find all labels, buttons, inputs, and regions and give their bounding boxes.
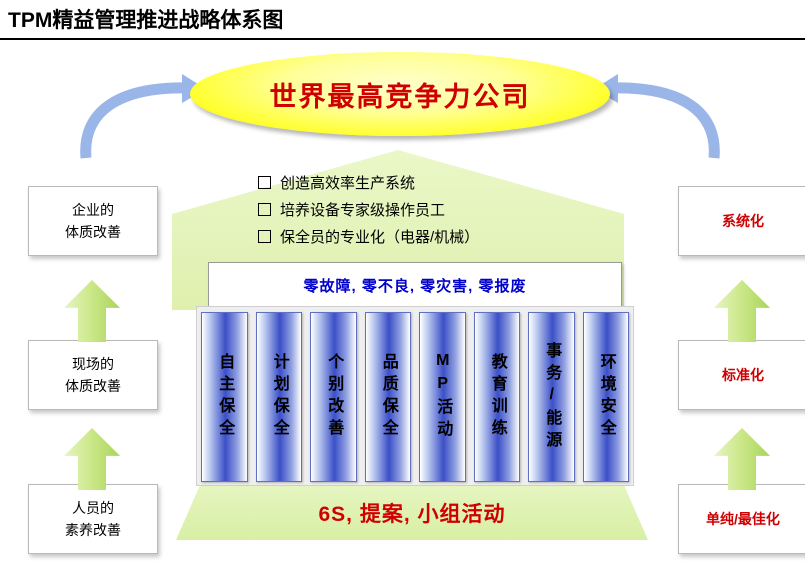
right-box-2-label: 标准化 xyxy=(722,364,764,386)
right-box-3-label: 单纯/最佳化 xyxy=(706,508,780,530)
title-divider xyxy=(0,38,805,40)
pillar: 品质保全 xyxy=(365,312,412,482)
pillar-label: 自主保全 xyxy=(216,353,232,441)
right-box-3: 单纯/最佳化 xyxy=(678,484,805,554)
pillar: MP活动 xyxy=(419,312,466,482)
curved-arrow-right-icon xyxy=(592,72,722,167)
foundation-text: 6S, 提案, 小组活动 xyxy=(318,498,505,528)
checkbox-icon xyxy=(258,230,271,243)
right-box-2: 标准化 xyxy=(678,340,805,410)
pillar-label: 计划保全 xyxy=(271,353,287,441)
pillar-label: MP活动 xyxy=(434,352,450,442)
left-box-1-line2: 体质改善 xyxy=(65,221,121,243)
list-item: 创造高效率生产系统 xyxy=(258,170,618,197)
objective-text: 保全员的专业化（电器/机械） xyxy=(280,224,479,251)
pillar: 计划保全 xyxy=(256,312,303,482)
up-arrow-icon xyxy=(714,280,770,342)
list-item: 培养设备专家级操作员工 xyxy=(258,197,618,224)
right-box-1: 系统化 xyxy=(678,186,805,256)
page-title: TPM精益管理推进战略体系图 xyxy=(8,4,283,34)
pillar-label: 教育训练 xyxy=(489,353,505,441)
objective-text: 培养设备专家级操作员工 xyxy=(280,197,445,224)
up-arrow-icon xyxy=(714,428,770,490)
pillar: 事务/能源 xyxy=(528,312,575,482)
zero-target-banner: 零故障, 零不良, 零灾害, 零报废 xyxy=(208,262,622,308)
left-box-2-line1: 现场的 xyxy=(65,353,121,375)
left-box-2-line2: 体质改善 xyxy=(65,375,121,397)
zero-target-text: 零故障, 零不良, 零灾害, 零报废 xyxy=(303,275,526,296)
checkbox-icon xyxy=(258,203,271,216)
pillars-container: 自主保全 计划保全 个别改善 品质保全 MP活动 教育训练 事务/能源 环境安全 xyxy=(196,306,634,486)
pillar-label: 品质保全 xyxy=(380,353,396,441)
pillar-label: 环境安全 xyxy=(598,353,614,441)
vision-text: 世界最高竞争力公司 xyxy=(270,75,531,114)
checkbox-icon xyxy=(258,176,271,189)
pillar-label: 事务/能源 xyxy=(543,342,559,453)
left-box-1: 企业的 体质改善 xyxy=(28,186,158,256)
list-item: 保全员的专业化（电器/机械） xyxy=(258,224,618,251)
objective-text: 创造高效率生产系统 xyxy=(280,170,415,197)
left-box-3-line1: 人员的 xyxy=(65,497,121,519)
left-box-3-line2: 素养改善 xyxy=(65,519,121,541)
curved-arrow-left-icon xyxy=(78,72,208,167)
pillar-label: 个别改善 xyxy=(325,353,341,441)
objectives-list: 创造高效率生产系统 培养设备专家级操作员工 保全员的专业化（电器/机械） xyxy=(258,170,618,251)
pillar: 个别改善 xyxy=(310,312,357,482)
left-box-1-line1: 企业的 xyxy=(65,199,121,221)
up-arrow-icon xyxy=(64,280,120,342)
foundation-band: 6S, 提案, 小组活动 xyxy=(176,486,648,540)
up-arrow-icon xyxy=(64,428,120,490)
right-box-1-label: 系统化 xyxy=(722,210,764,232)
left-box-2: 现场的 体质改善 xyxy=(28,340,158,410)
left-box-3: 人员的 素养改善 xyxy=(28,484,158,554)
pillar: 环境安全 xyxy=(583,312,630,482)
vision-ellipse: 世界最高竞争力公司 xyxy=(190,52,610,136)
pillar: 教育训练 xyxy=(474,312,521,482)
pillar: 自主保全 xyxy=(201,312,248,482)
